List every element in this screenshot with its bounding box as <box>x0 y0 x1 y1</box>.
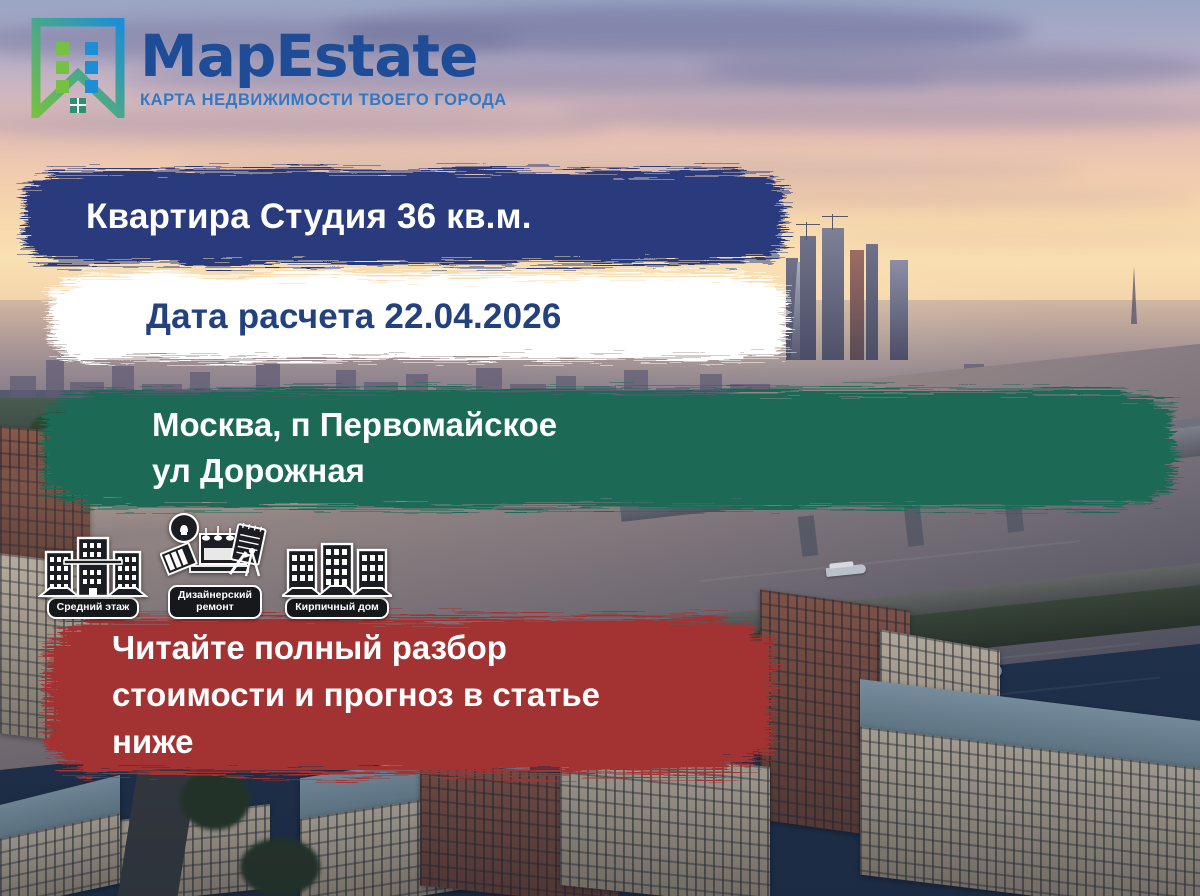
badge-brick-house[interactable]: Кирпичный дом <box>282 530 392 619</box>
brand-name: MapEstate <box>140 27 507 85</box>
address-line-1: Москва, п Первомайское <box>152 402 557 448</box>
moscow-city-tower <box>850 250 864 360</box>
property-banner-text: Квартира Студия 36 кв.м. <box>86 197 532 237</box>
property-banner: Квартира Студия 36 кв.м. <box>12 163 802 271</box>
promo-poster: MapEstate КАРТА НЕДВИЖИМОСТИ ТВОЕГО ГОРО… <box>0 0 1200 896</box>
brand-logo[interactable]: MapEstate КАРТА НЕДВИЖИМОСТИ ТВОЕГО ГОРО… <box>30 18 507 118</box>
cloud <box>700 48 1200 88</box>
cloud <box>560 98 1200 130</box>
date-banner-text: Дата расчета 22.04.2026 <box>146 297 562 337</box>
brand-tagline: КАРТА НЕДВИЖИМОСТИ ТВОЕГО ГОРОДА <box>140 92 507 109</box>
cta-line-1: Читайте полный разбор <box>112 625 600 672</box>
designer-renovation-icon <box>160 512 270 592</box>
badge-designer-renovation[interactable]: Дизайнерский ремонт <box>160 512 270 619</box>
cta-line-3: ниже <box>112 719 600 766</box>
bookmark-building-icon <box>30 18 126 118</box>
moscow-city-tower <box>800 236 816 360</box>
moscow-city-tower <box>890 260 908 360</box>
address-line-2: ул Дорожная <box>152 448 557 494</box>
moscow-city-tower <box>822 228 844 360</box>
tv-tower <box>1131 266 1137 324</box>
badge-mid-floor[interactable]: Средний этаж <box>38 530 148 619</box>
cta-line-2: стоимости и прогноз в статье <box>112 672 600 719</box>
feature-badges: Средний этаж <box>38 512 392 619</box>
moscow-city-tower <box>866 244 878 360</box>
date-banner: Дата расчета 22.04.2026 <box>40 268 800 366</box>
cta-banner: Читайте полный разбор стоимости и прогно… <box>28 608 788 783</box>
brick-house-icon <box>282 530 392 604</box>
mid-floor-building-icon <box>38 530 148 604</box>
cta-banner-text: Читайте полный разбор стоимости и прогно… <box>112 625 600 766</box>
address-banner: Москва, п Первомайское ул Дорожная <box>28 382 1188 514</box>
address-banner-text: Москва, п Первомайское ул Дорожная <box>152 402 557 494</box>
